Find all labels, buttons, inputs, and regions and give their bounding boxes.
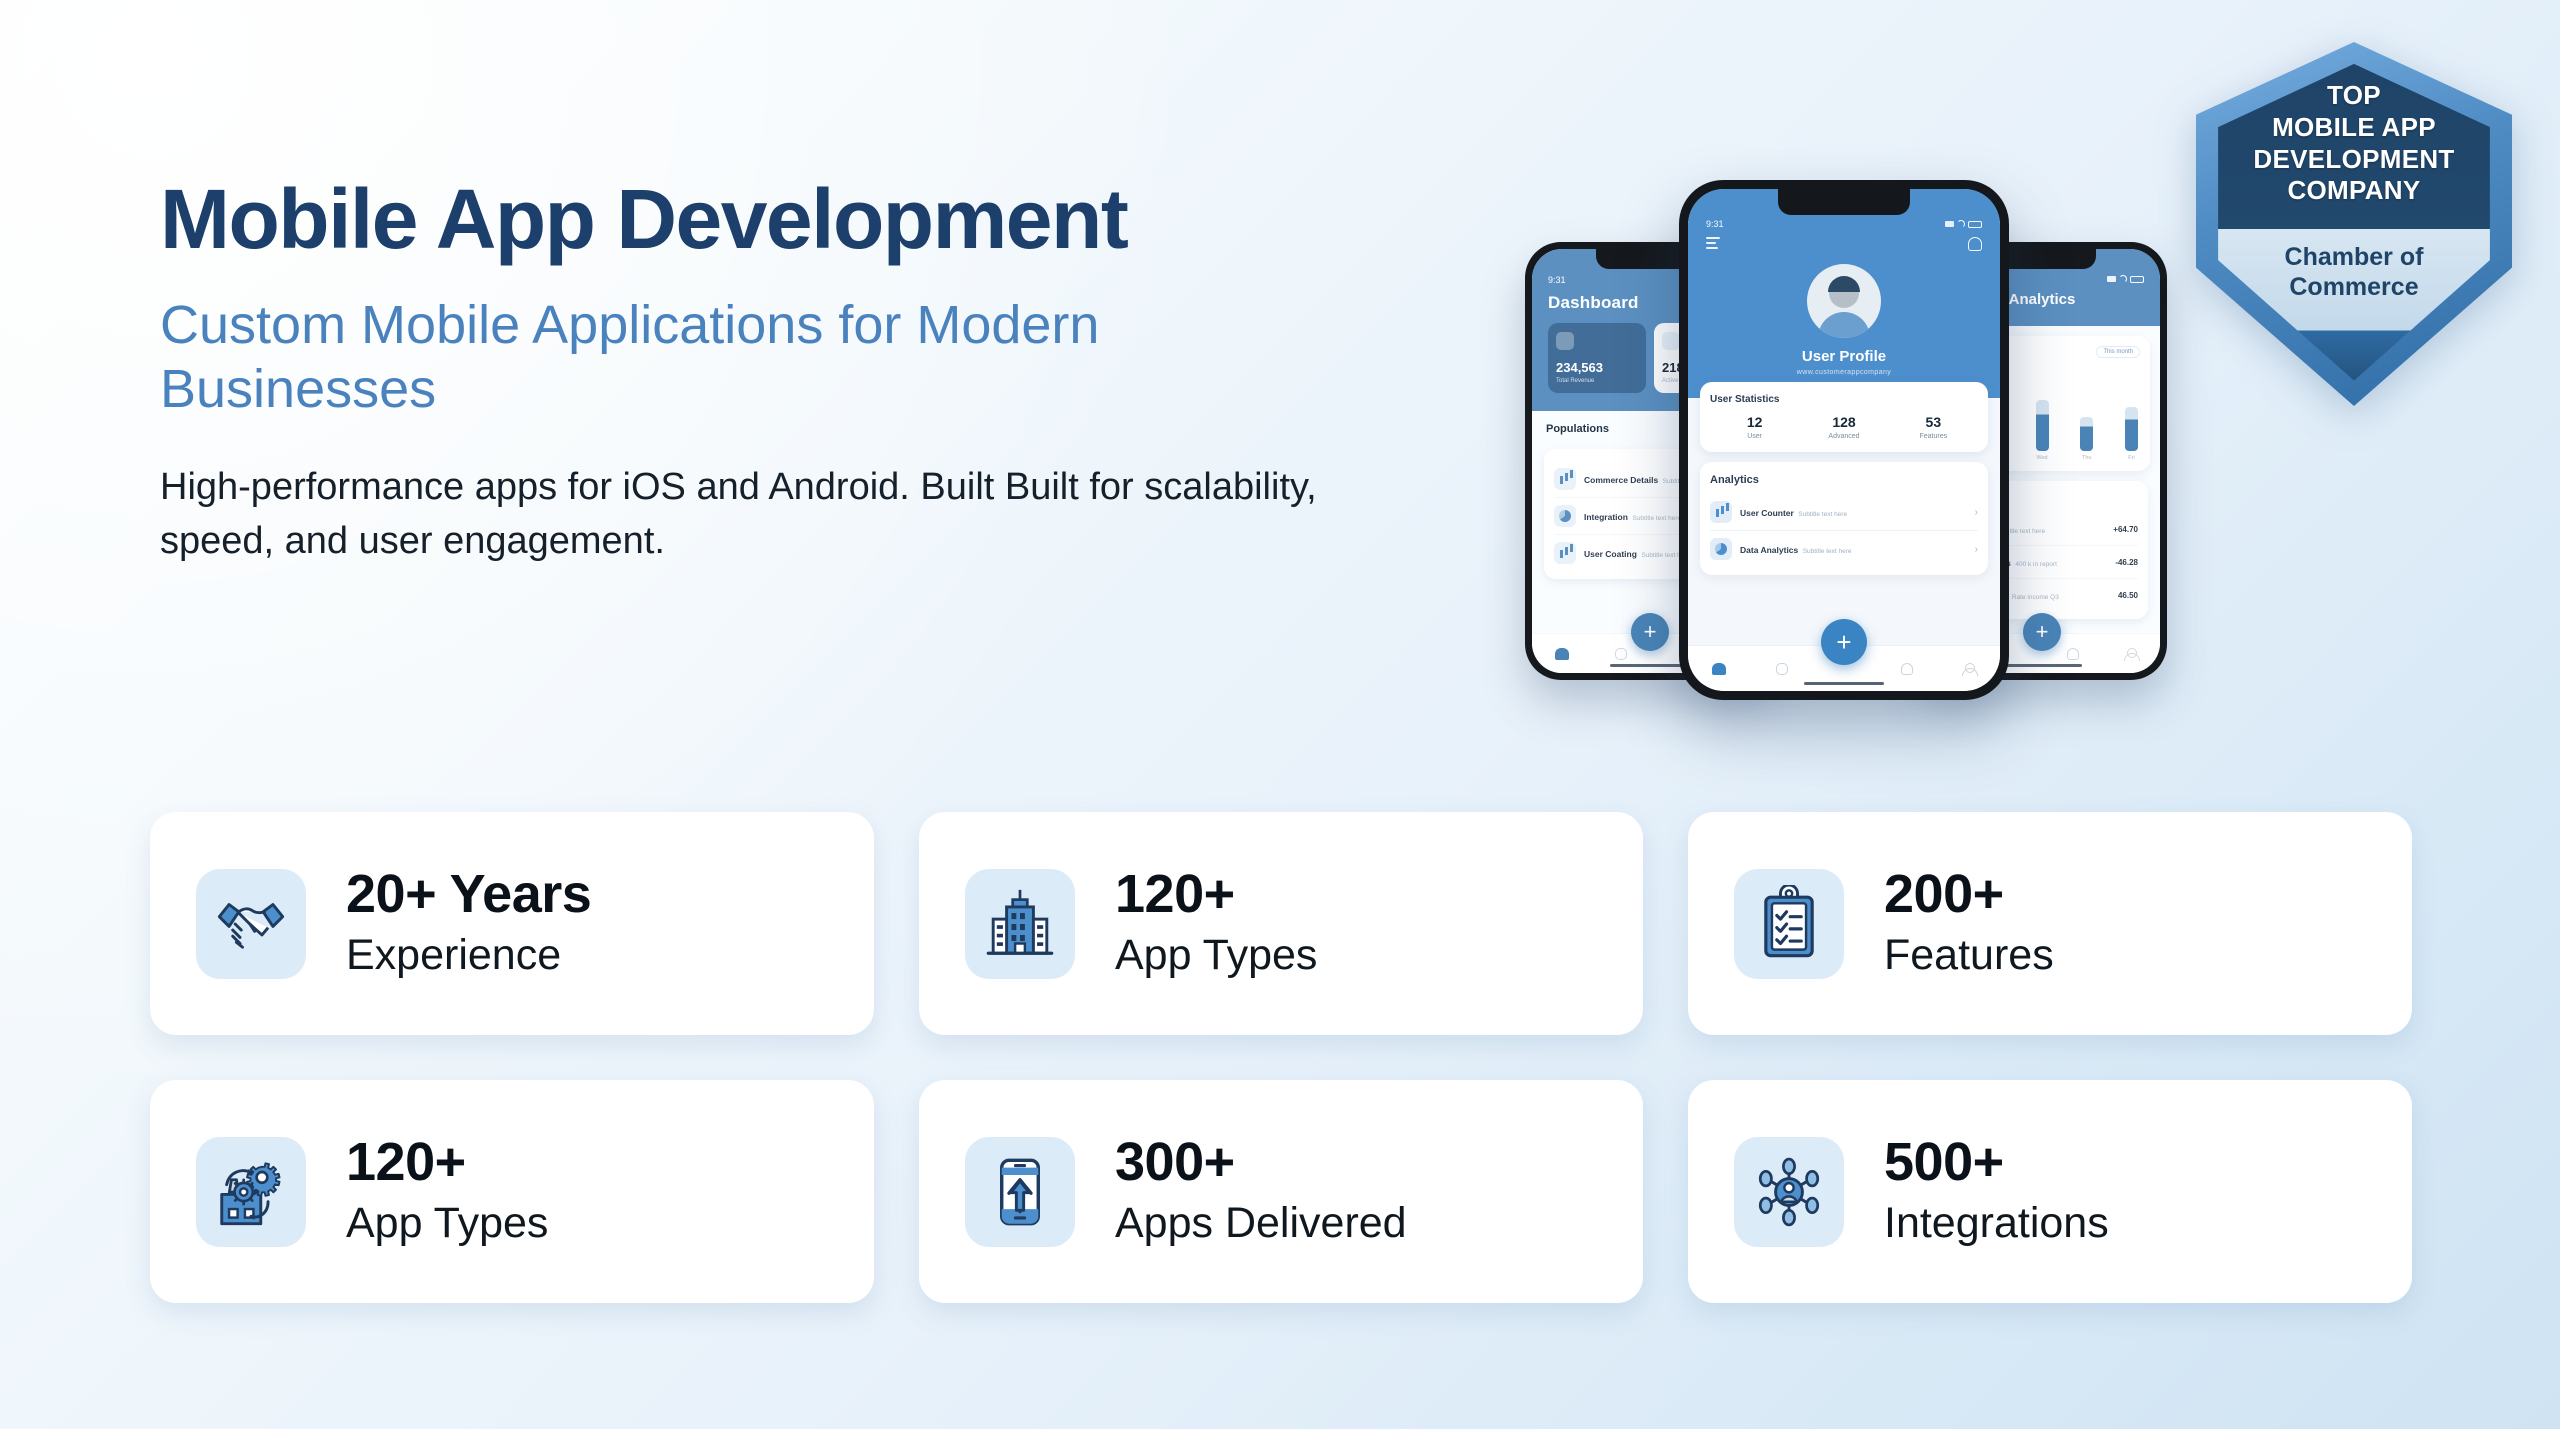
bar-chart-icon (1554, 542, 1576, 564)
list-item-value: -46.28 (2115, 558, 2138, 567)
stat-number: 500+ (1884, 1134, 2109, 1191)
list-item-title: User Counter (1740, 508, 1794, 518)
list-item-value: 46.50 (2118, 591, 2138, 600)
page-description: High-performance apps for iOS and Androi… (160, 461, 1390, 569)
hero-banner: Mobile App Development Custom Mobile App… (0, 0, 2560, 1429)
home-indicator (1610, 664, 1690, 667)
icon-tile (965, 1137, 1075, 1247)
stats-grid: 20+ YearsExperience 120+App Types (150, 812, 2412, 1303)
list-item[interactable]: Data Analytics Subtitle text here › (1710, 531, 1978, 567)
stat-card[interactable]: 120+App Types (919, 812, 1643, 1035)
profile-header: 9:31 User Profile www.customerappcompan (1688, 189, 2000, 398)
phone-upload-icon (981, 1153, 1059, 1231)
user-statistics-card: User Statistics 12 User 128 Advanced (1700, 382, 1988, 452)
list-item-subtitle: Subtitle text here (1632, 515, 1681, 522)
badge-issuer: Chamber of Commerce (2196, 242, 2512, 302)
signal-icon (1945, 221, 1954, 227)
avatar (1807, 264, 1881, 338)
phone-notch (1778, 189, 1910, 215)
battery-icon (2130, 276, 2144, 283)
stat-card[interactable]: 500+Integrations (1688, 1080, 2412, 1303)
stat-label: Total Revenue (1556, 378, 1638, 384)
home-icon[interactable] (1711, 661, 1727, 677)
stat-label: User (1710, 433, 1799, 440)
square-icon[interactable] (1613, 646, 1629, 662)
chevron-right-icon: › (1975, 507, 1978, 518)
stat-card[interactable]: 300+Apps Delivered (919, 1080, 1643, 1303)
stat-label: App Types (1115, 931, 1317, 980)
bar-chart-icon (1710, 501, 1732, 523)
stat-label: App Types (346, 1199, 548, 1248)
bar-label: Wed (2036, 455, 2049, 461)
stat-value: 12 (1710, 414, 1799, 430)
icon-tile (1734, 1137, 1844, 1247)
page-title: Mobile App Development (160, 175, 1450, 264)
stat-number: 120+ (346, 1134, 548, 1191)
stat-number: 120+ (1115, 866, 1317, 923)
badge-title: TOP MOBILE APP DEVELOPMENT COMPANY (2196, 80, 2512, 207)
network-hub-icon (1750, 1153, 1828, 1231)
stat-text: 120+App Types (1115, 866, 1317, 980)
icon-tile (196, 869, 306, 979)
list-item-subtitle: Rate income Q3 (2012, 594, 2059, 601)
profile-body: User Statistics 12 User 128 Advanced (1688, 382, 2000, 585)
status-icons (1945, 220, 1982, 228)
stat-value: 128 (1799, 414, 1888, 430)
phone-screen: 9:31 User Profile www.customerappcompan (1688, 189, 2000, 691)
stat-text: 20+ YearsExperience (346, 866, 591, 980)
handshake-icon (212, 885, 290, 963)
bar-chart-icon (1554, 468, 1576, 490)
chart-period-pill[interactable]: This month (2096, 346, 2140, 358)
phone-mockup-profile: 9:31 User Profile www.customerappcompan (1679, 180, 2009, 700)
chevron-right-icon: › (1975, 544, 1978, 555)
square-icon[interactable] (1774, 661, 1790, 677)
stat-text: 200+Features (1884, 866, 2054, 980)
list-item-subtitle: 400 k in report (2015, 561, 2057, 568)
add-button[interactable]: + (1631, 613, 1669, 651)
stat-value: 53 (1889, 414, 1978, 430)
bar (2036, 385, 2049, 451)
signal-icon (2107, 276, 2116, 282)
icon-tile (965, 869, 1075, 979)
stat-label: Experience (346, 931, 591, 980)
bell-icon[interactable] (1898, 661, 1914, 677)
stat-text: 120+App Types (346, 1134, 548, 1248)
stat-text: 500+Integrations (1884, 1134, 2109, 1248)
profile-subtitle: www.customerappcompany (1706, 369, 1982, 376)
menu-icon[interactable] (1706, 237, 1720, 252)
section-title: Populations (1546, 423, 1609, 435)
stat-label: Features (1889, 433, 1978, 440)
analytics-card: Analytics User Counter Subtitle text her… (1700, 462, 1988, 575)
factory-gears-icon (212, 1153, 290, 1231)
wifi-icon (2119, 275, 2127, 283)
add-button[interactable]: + (2023, 613, 2061, 651)
notification-bell-icon[interactable] (1968, 237, 1982, 251)
stat-text: 300+Apps Delivered (1115, 1134, 1407, 1248)
profile-name: User Profile (1706, 348, 1982, 365)
home-indicator (2002, 664, 2082, 667)
wifi-icon (1957, 220, 1965, 228)
list-item-title: User Coating (1584, 549, 1637, 559)
bar-label: Thu (2080, 455, 2093, 461)
award-badge: TOP MOBILE APP DEVELOPMENT COMPANY Chamb… (2196, 42, 2512, 406)
add-button[interactable]: + (1821, 619, 1867, 665)
stat-label: Integrations (1884, 1199, 2109, 1248)
list-item-title: Data Analytics (1740, 545, 1798, 555)
stat-value: 234,563 (1556, 360, 1638, 375)
user-icon[interactable] (2123, 646, 2139, 662)
users-icon (1662, 332, 1680, 350)
user-icon[interactable] (1961, 661, 1977, 677)
status-time: 9:31 (1548, 275, 1566, 285)
hero-text-block: Mobile App Development Custom Mobile App… (160, 175, 1450, 569)
stat-card[interactable]: 120+App Types (150, 1080, 874, 1303)
bar (2080, 385, 2093, 451)
building-icon (981, 885, 1059, 963)
page-subtitle: Custom Mobile Applications for Modern Bu… (160, 294, 1260, 421)
battery-icon (1968, 221, 1982, 228)
list-item-subtitle: Subtitle text here (1798, 511, 1847, 518)
stat-label: Apps Delivered (1115, 1199, 1407, 1248)
list-item-title: Integration (1584, 512, 1628, 522)
stat-card: 234,563 Total Revenue (1548, 323, 1646, 393)
stat-label: Features (1884, 931, 2054, 980)
stat-cell: 128 Advanced (1799, 414, 1888, 440)
status-bar: 9:31 (1706, 219, 1982, 229)
stat-label: Advanced (1799, 433, 1888, 440)
pie-chart-icon (1710, 538, 1732, 560)
list-item-title: Commerce Details (1584, 475, 1658, 485)
clipboard-check-icon (1750, 885, 1828, 963)
status-icons (2107, 275, 2144, 283)
stat-number: 300+ (1115, 1134, 1407, 1191)
icon-tile (196, 1137, 306, 1247)
stat-card[interactable]: 200+Features (1688, 812, 2412, 1035)
status-time: 9:31 (1706, 219, 1724, 229)
home-icon[interactable] (1554, 646, 1570, 662)
pie-chart-icon (1554, 505, 1576, 527)
list-item-value: +64.70 (2113, 525, 2138, 534)
bar (2125, 385, 2138, 451)
list-item-subtitle: Subtitle text here (1803, 548, 1852, 555)
analytics-title: Analytics (1710, 474, 1978, 486)
stat-number: 20+ Years (346, 866, 591, 923)
stats-title: User Statistics (1710, 394, 1978, 405)
home-indicator (1804, 682, 1884, 685)
bell-icon[interactable] (2064, 646, 2080, 662)
stat-cell: 12 User (1710, 414, 1799, 440)
phone-mockups: 9:31 Dashboard 234,563 Total Revenue (1525, 180, 2185, 700)
stat-cell: 53 Features (1889, 414, 1978, 440)
stat-card[interactable]: 20+ YearsExperience (150, 812, 874, 1035)
icon-tile (1734, 869, 1844, 979)
list-item[interactable]: User Counter Subtitle text here › (1710, 494, 1978, 531)
bar-label: Fri (2125, 455, 2138, 461)
wallet-icon (1556, 332, 1574, 350)
stat-number: 200+ (1884, 866, 2054, 923)
